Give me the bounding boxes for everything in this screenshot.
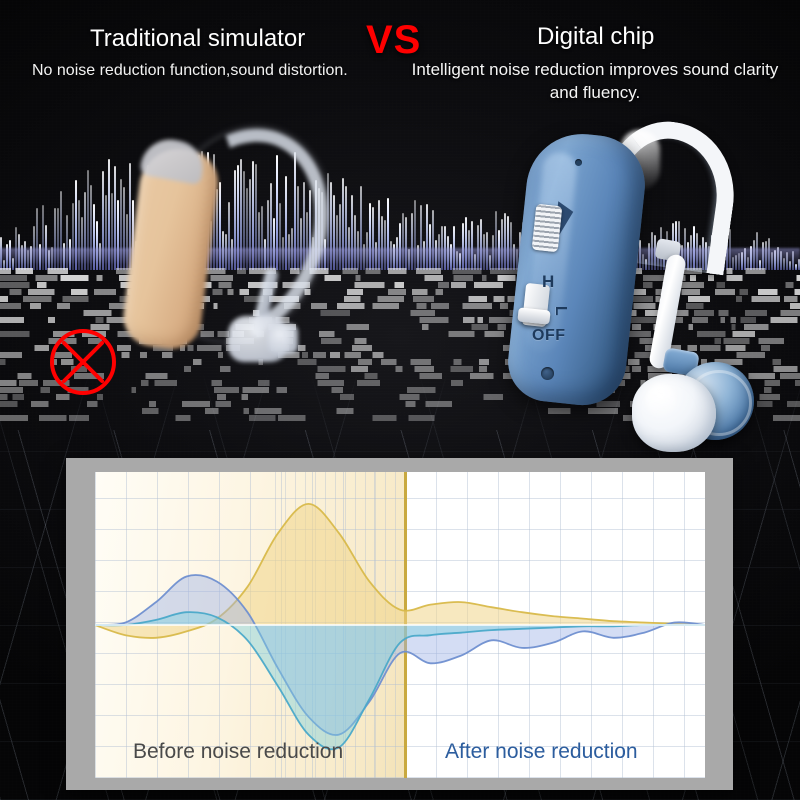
product-comparison-banner: H L OFF Traditional simulator No noise r… [0,0,800,800]
volume-wheel[interactable] [532,204,563,252]
analog-ear-tip-inner [268,324,298,354]
comparison-chart-frame: Before noise reduction After noise reduc… [66,458,733,790]
waveform-series [95,472,705,778]
comparison-chart-plot: Before noise reduction After noise reduc… [95,472,705,778]
vs-label: VS [366,18,421,63]
ear-dome-highlight [646,384,676,418]
switch-label-off: OFF [532,327,566,345]
digital-hearing-aid-image: H L OFF [500,112,770,452]
traditional-hearing-aid-image [120,118,320,368]
caption-after: After noise reduction [445,740,638,764]
switch-label-l: L [551,306,569,316]
left-subtitle: No noise reduction function,sound distor… [32,62,348,80]
caption-before: Before noise reduction [133,740,343,764]
right-title: Digital chip [537,23,654,51]
digital-body [504,129,650,410]
left-title: Traditional simulator [90,25,305,53]
circle-x-icon [48,327,118,397]
switch-label-h: H [542,272,555,292]
right-subtitle: Intelligent noise reduction improves sou… [405,58,785,104]
battery-port-icon [541,367,554,380]
ear-dome-tip [632,374,716,452]
microphone-port-icon [575,159,582,166]
header-block: Traditional simulator No noise reduction… [0,0,800,110]
